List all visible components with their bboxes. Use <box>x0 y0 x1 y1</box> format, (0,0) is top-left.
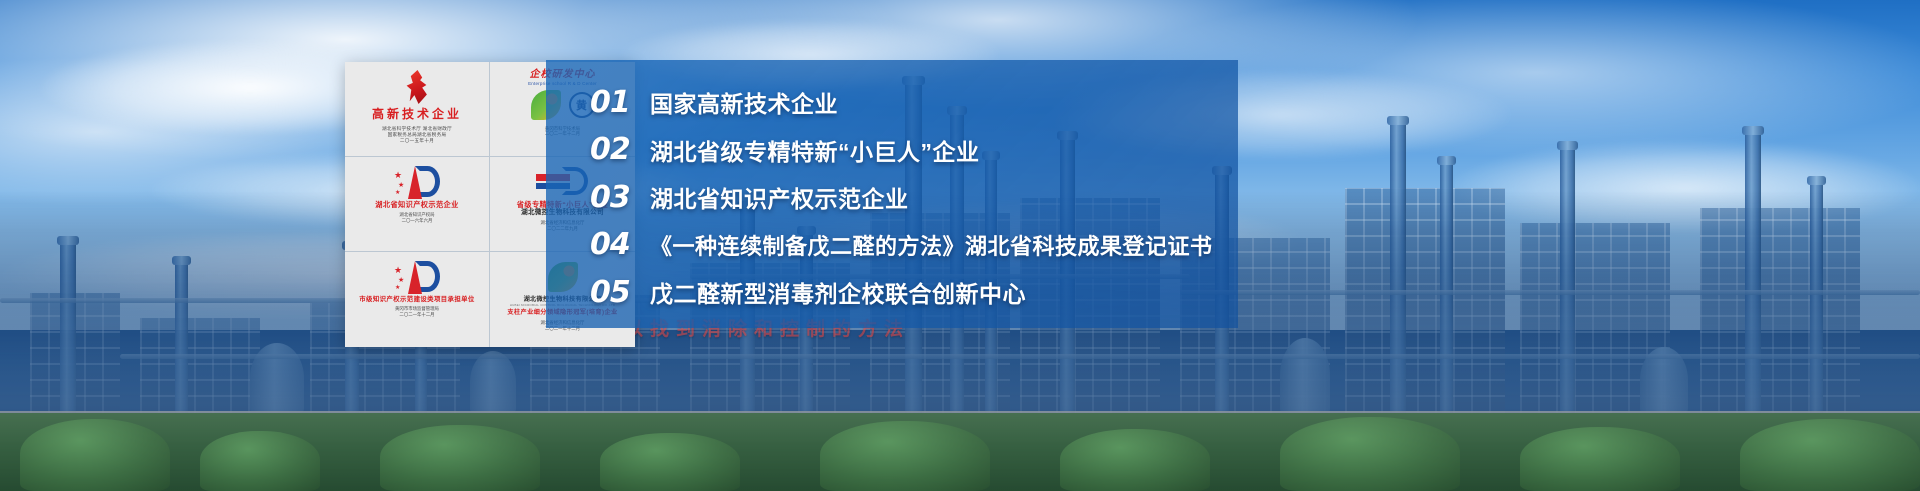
star-p-logo-icon: ★★★ <box>394 258 440 296</box>
certificate-card[interactable]: 高新技术企业 湖北省科学技术厅 湖北省财政厅 国家税务总局湖北省税务局 二〇一五… <box>345 62 490 157</box>
list-item-number: 02 <box>590 132 650 167</box>
list-item[interactable]: 01 国家高新技术企业 <box>546 80 1238 124</box>
honors-list-panel: 01 国家高新技术企业 02 湖北省级专精特新“小巨人”企业 03 湖北省知识产… <box>546 60 1238 328</box>
list-item-label: 湖北省级专精特新“小巨人”企业 <box>650 133 980 167</box>
certificate-footer: 湖北省知识产权局 二〇一六年六月 <box>399 212 434 224</box>
star-p-logo-icon: ★★★ <box>394 163 440 201</box>
flame-logo-icon <box>404 68 430 106</box>
list-item-number: 03 <box>590 180 650 215</box>
list-item-label: 戊二醛新型消毒剂企校联合创新中心 <box>650 275 1026 309</box>
list-item[interactable]: 02 湖北省级专精特新“小巨人”企业 <box>546 128 1238 172</box>
list-item[interactable]: 04 《一种连续制备戊二醛的方法》湖北省科技成果登记证书 <box>546 223 1238 267</box>
certificate-footer: 湖北省科学技术厅 湖北省财政厅 国家税务总局湖北省税务局 二〇一五年十月 <box>382 126 452 145</box>
list-item-number: 04 <box>590 227 650 262</box>
list-item-label: 《一种连续制备戊二醛的方法》湖北省科技成果登记证书 <box>650 229 1213 261</box>
certificate-card[interactable]: ★★★ 市级知识产权示范建设类项目承担单位 黄冈市市场监督管理局 二〇二一年十二… <box>345 252 490 347</box>
list-item-label: 国家高新技术企业 <box>650 85 838 119</box>
list-item[interactable]: 05 戊二醛新型消毒剂企校联合创新中心 <box>546 270 1238 314</box>
certificate-footer: 黄冈市市场监督管理局 二〇二一年十二月 <box>395 306 439 318</box>
certificate-card[interactable]: ★★★ 湖北省知识产权示范企业 湖北省知识产权局 二〇一六年六月 <box>345 157 490 252</box>
list-item[interactable]: 03 湖北省知识产权示范企业 <box>546 175 1238 219</box>
certificate-title: 市级知识产权示范建设类项目承担单位 <box>359 296 474 303</box>
certificate-title: 湖北省知识产权示范企业 <box>375 201 458 209</box>
list-item-label: 湖北省知识产权示范企业 <box>650 180 909 214</box>
hero-banner: 全网都可以找到消除和控制的方法 高新技术企业 湖北省科学技术厅 湖北省财政厅 国… <box>0 0 1920 491</box>
list-item-number: 05 <box>590 275 650 310</box>
list-item-number: 01 <box>590 85 650 120</box>
certificate-title: 高新技术企业 <box>372 108 462 122</box>
